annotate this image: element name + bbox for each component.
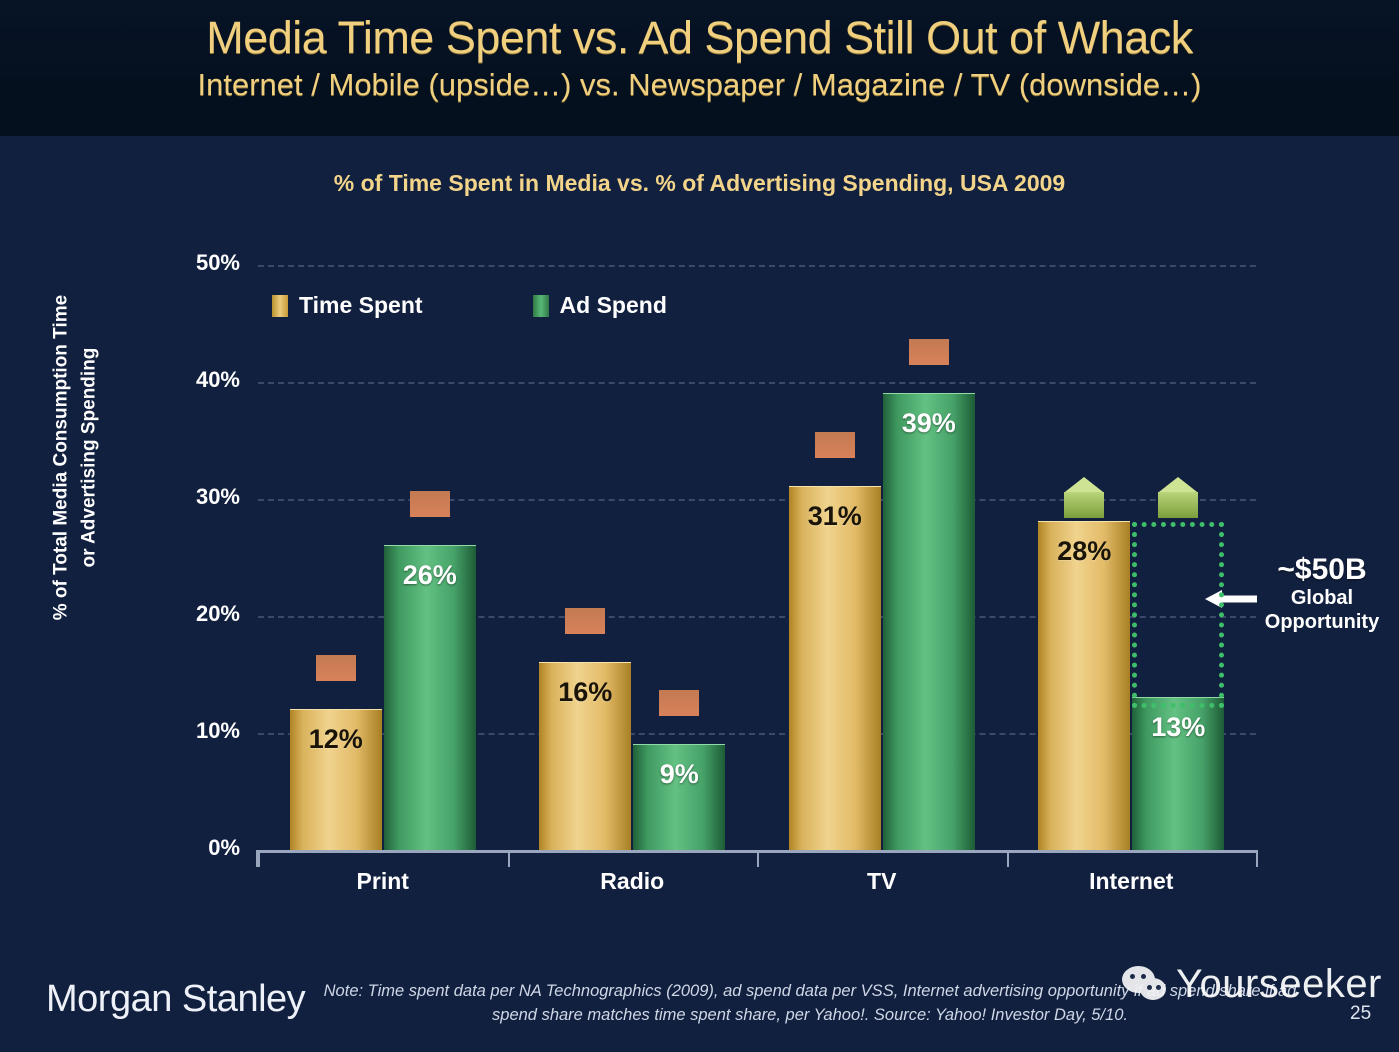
arrow-down-icon-print-ad-spend [388,491,472,549]
arrow-down-icon-print-time-spent [294,655,378,713]
x-tick-edge [1256,850,1258,867]
page-subtitle: Internet / Mobile (upside…) vs. Newspape… [0,62,1399,103]
arrow-up-icon-internet-time-spent [1042,460,1126,518]
bar-internet-time-spent[interactable]: 28% [1038,521,1130,850]
x-tick [757,850,759,867]
y-tick-label-40%: 40% [150,367,240,393]
wechat-icon [1122,966,1172,1004]
chart-plot-area: 12%26%16%9%31%39%28%13% [258,265,1256,850]
bar-value-label: 39% [883,408,975,439]
slide-header: Media Time Spent vs. Ad Spend Still Out … [0,0,1399,136]
x-category-label-print: Print [258,868,508,895]
y-axis-title: % of Total Media Consumption Time or Adv… [47,208,102,708]
page-title: Media Time Spent vs. Ad Spend Still Out … [0,0,1399,62]
x-tick [258,850,260,867]
x-tick [508,850,510,867]
arrow-down-icon-radio-ad-spend [637,690,721,748]
y-tick-label-0%: 0% [150,835,240,861]
y-axis-title-line2: or Advertising Spending [75,208,103,708]
bar-value-label: 13% [1132,712,1224,743]
morgan-stanley-logo: Morgan Stanley [46,978,305,1021]
bar-print-time-spent[interactable]: 12% [290,709,382,850]
callout-amount: ~$50B [1246,552,1398,587]
x-tick [1007,850,1009,867]
opportunity-callout: ~$50B Global Opportunity [1246,552,1398,635]
bar-radio-ad-spend[interactable]: 9% [633,744,725,850]
y-axis-title-line1: % of Total Media Consumption Time [47,208,75,708]
x-category-label-internet: Internet [1006,868,1256,895]
arrow-down-icon-tv-ad-spend [887,339,971,397]
bar-tv-ad-spend[interactable]: 39% [883,393,975,850]
footnote-line2: spend share matches time spent share, pe… [300,1004,1320,1028]
arrow-up-icon-internet-ad-spend [1136,460,1220,518]
watermark: Yourseeker [1122,962,1382,1007]
x-tick-edge [256,850,258,867]
bar-tv-time-spent[interactable]: 31% [789,486,881,850]
chart-title: % of Time Spent in Media vs. % of Advert… [0,170,1399,197]
y-tick-label-20%: 20% [150,601,240,627]
bar-value-label: 26% [384,560,476,591]
bar-value-label: 28% [1038,536,1130,567]
y-tick-label-50%: 50% [150,250,240,276]
x-category-label-tv: TV [757,868,1007,895]
bar-value-label: 31% [789,501,881,532]
bar-value-label: 16% [539,677,631,708]
bar-internet-ad-spend[interactable]: 13% [1132,697,1224,850]
callout-line1: Global [1246,587,1398,611]
arrow-down-icon-radio-time-spent [543,608,627,666]
watermark-text: Yourseeker [1176,962,1382,1007]
bar-radio-time-spent[interactable]: 16% [539,662,631,850]
bar-value-label: 12% [290,724,382,755]
y-tick-label-10%: 10% [150,718,240,744]
callout-line2: Opportunity [1246,611,1398,635]
opportunity-gap-box [1132,522,1224,708]
x-category-label-radio: Radio [507,868,757,895]
bar-print-ad-spend[interactable]: 26% [384,545,476,850]
arrow-down-icon-tv-time-spent [793,432,877,490]
bar-value-label: 9% [633,759,725,790]
y-tick-label-30%: 30% [150,484,240,510]
